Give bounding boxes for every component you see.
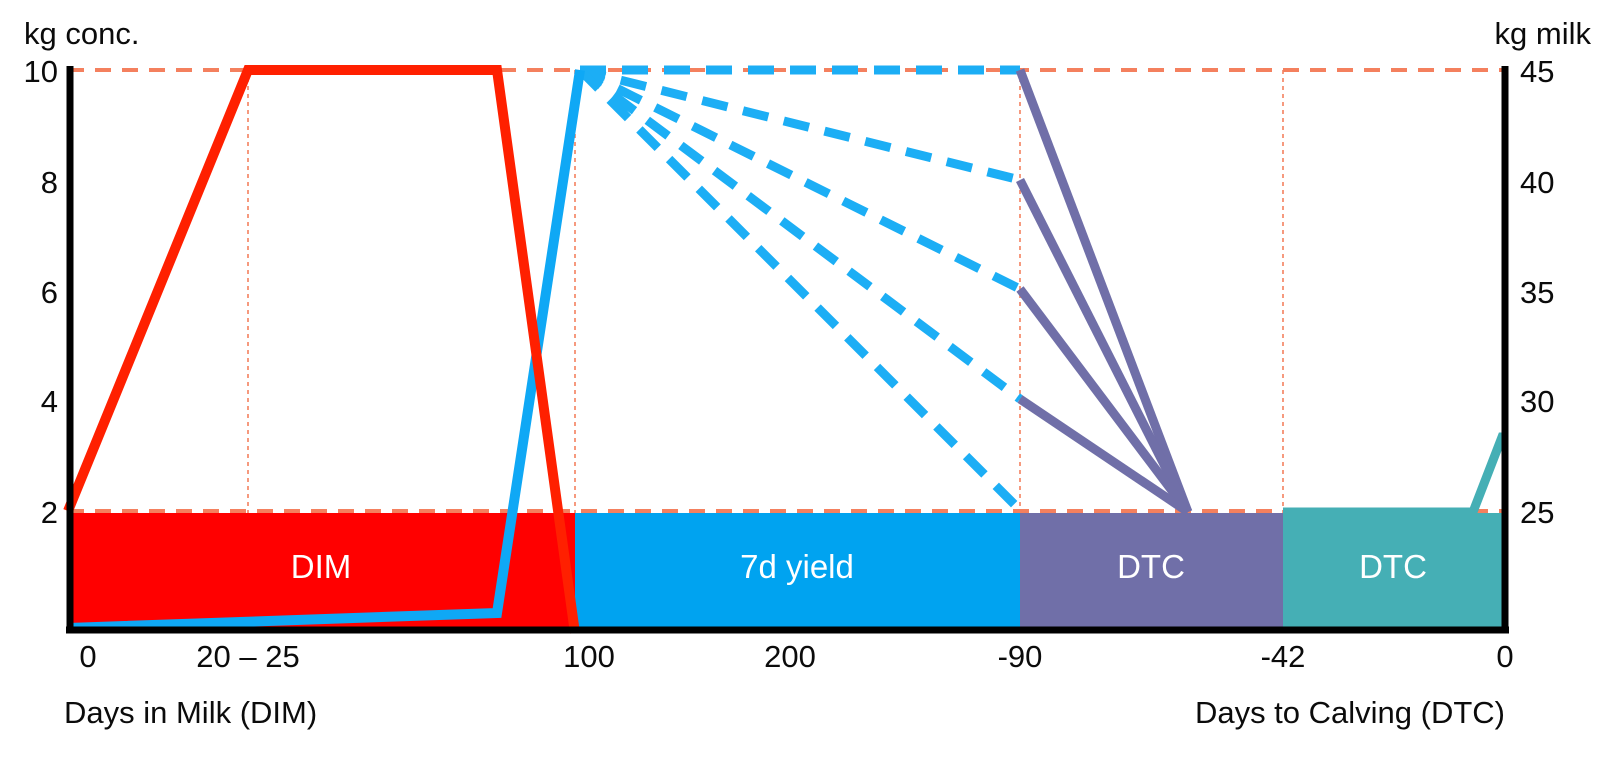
y-tick-right-45: 45 bbox=[1520, 54, 1554, 89]
y-tick-left-4: 4 bbox=[41, 384, 58, 419]
right-axis-caption: kg milk bbox=[1495, 16, 1592, 51]
x-tick-minus-90: -90 bbox=[998, 639, 1043, 674]
band-label-7d-yield: 7d yield bbox=[740, 548, 854, 585]
y-tick-left-2: 2 bbox=[41, 495, 58, 530]
x-tick-0-dtc: 0 bbox=[1496, 639, 1513, 674]
y-tick-right-30: 30 bbox=[1520, 384, 1554, 419]
y-tick-right-25: 25 bbox=[1520, 495, 1554, 530]
x-axis-title-left: Days in Milk (DIM) bbox=[64, 695, 317, 730]
x-tick-20-25: 20 – 25 bbox=[196, 639, 299, 674]
band-label-dtc-closeup: DTC bbox=[1359, 548, 1427, 585]
x-tick-minus-42: -42 bbox=[1261, 639, 1306, 674]
y-tick-left-6: 6 bbox=[41, 275, 58, 310]
chart-container: DIM 7d yield DTC DTC kg conc. bbox=[0, 0, 1615, 760]
band-label-dtc-dry: DTC bbox=[1117, 548, 1185, 585]
x-tick-200: 200 bbox=[764, 639, 816, 674]
chart-svg: DIM 7d yield DTC DTC kg conc. bbox=[0, 0, 1615, 760]
y-tick-right-40: 40 bbox=[1520, 165, 1554, 200]
x-tick-0-dim: 0 bbox=[79, 639, 96, 674]
left-axis-caption: kg conc. bbox=[24, 16, 139, 51]
y-tick-left-8: 8 bbox=[41, 165, 58, 200]
x-axis-title-right: Days to Calving (DTC) bbox=[1195, 695, 1505, 730]
y-tick-left-10: 10 bbox=[24, 54, 58, 89]
x-tick-100: 100 bbox=[563, 639, 615, 674]
band-label-dim: DIM bbox=[291, 548, 352, 585]
y-tick-right-35: 35 bbox=[1520, 275, 1554, 310]
